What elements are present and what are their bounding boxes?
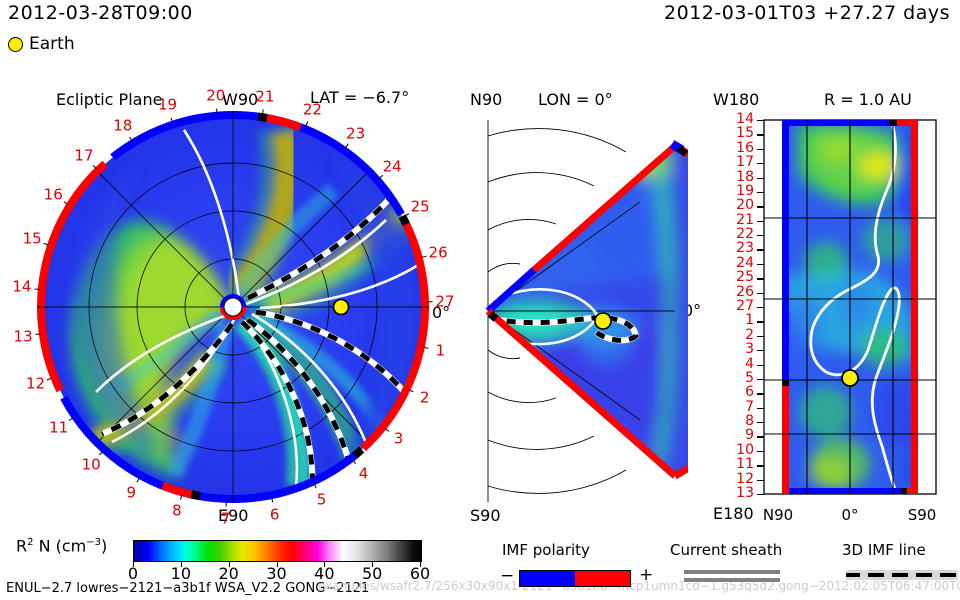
ecliptic-day-label: 7 (221, 511, 231, 526)
ecliptic-panel-title: Ecliptic Plane (56, 92, 162, 108)
carrington-row-tick (757, 206, 764, 207)
carrington-row-tick (757, 149, 764, 150)
carrington-row-tick (757, 192, 764, 193)
carrington-row-label: 21 (736, 213, 754, 227)
carrington-row-tick (757, 365, 764, 366)
ecliptic-day-tick (35, 333, 40, 335)
carrington-row-tick (757, 350, 764, 351)
carrington-row-label: 27 (736, 299, 754, 313)
ecliptic-day-label: 16 (44, 187, 63, 202)
carrington-row-label: 17 (736, 155, 754, 169)
carrington-row-tick (757, 451, 764, 452)
carrington-row-label: 9 (745, 428, 754, 442)
imf-polarity-swatch (519, 570, 631, 587)
carrington-row-label: 23 (736, 241, 754, 255)
carrington-row-tick (757, 494, 764, 495)
ecliptic-day-tick (404, 213, 409, 217)
earth-marker-meridional[interactable] (595, 313, 611, 329)
ecliptic-day-label: 15 (23, 232, 42, 247)
imf-polarity-legend-title: IMF polarity (502, 543, 590, 558)
ecliptic-day-tick (47, 377, 52, 380)
carrington-row-label: 16 (736, 141, 754, 155)
ecliptic-day-tick (423, 347, 428, 349)
carrington-row-tick (757, 307, 764, 308)
carrington-row-tick (757, 422, 764, 423)
carrington-panel-title: R = 1.0 AU (824, 92, 912, 108)
carrington-w180-label: W180 (713, 92, 759, 108)
carrington-bottom-label: N90 (763, 508, 793, 523)
run-start-timestamp: 2012-03-01T03 +27.27 days (664, 4, 950, 23)
ecliptic-day-tick (421, 256, 426, 259)
carrington-row-tick (757, 249, 764, 250)
ecliptic-day-label: 6 (270, 507, 280, 522)
carrington-row-label: 14 (736, 112, 754, 126)
meridional-panel-title: LON = 0° (538, 92, 613, 108)
meridional-n90-label: N90 (470, 92, 502, 108)
ecliptic-day-label: 25 (411, 200, 430, 215)
carrington-bottom-label: S90 (908, 508, 937, 523)
ecliptic-day-label: 3 (394, 432, 404, 447)
ecliptic-day-tick (384, 428, 389, 432)
carrington-row-label: 2 (745, 328, 754, 342)
ecliptic-day-tick (44, 242, 49, 245)
colorbar[interactable] (133, 540, 422, 562)
meridional-canvas (476, 112, 688, 510)
ecliptic-day-label: 24 (383, 159, 402, 174)
carrington-row-label: 13 (736, 486, 754, 500)
earth-legend-label: Earth (29, 36, 75, 53)
colorbar-label: R2 N (cm−3) (16, 538, 107, 554)
carrington-row-label: 22 (736, 227, 754, 241)
ecliptic-day-label: 26 (429, 246, 448, 261)
ecliptic-day-label: 14 (12, 280, 31, 295)
carrington-row-label: 25 (736, 270, 754, 284)
ecliptic-day-tick (225, 501, 227, 506)
current-sheath-swatch-bottom (684, 578, 780, 582)
carrington-row-label: 15 (736, 126, 754, 140)
carrington-row-tick (757, 120, 764, 121)
carrington-row-tick (757, 235, 764, 236)
ecliptic-day-label: 20 (206, 88, 225, 103)
carrington-row-tick (757, 336, 764, 337)
carrington-row-tick (757, 134, 764, 135)
meridional-s90-label: S90 (470, 508, 501, 524)
earth-marker-icon (8, 37, 23, 52)
ecliptic-day-tick (379, 175, 384, 179)
carrington-e180-label: E180 (713, 506, 754, 522)
polarity-plus-label: + (639, 567, 653, 584)
carrington-row-tick (757, 293, 764, 294)
ecliptic-w90-label: W90 (222, 92, 258, 108)
ecliptic-day-label: 10 (82, 457, 101, 472)
ecliptic-day-tick (271, 498, 273, 503)
meridional-slice-plot[interactable] (476, 112, 688, 510)
carrington-row-tick (757, 465, 764, 466)
ecliptic-day-label: 5 (317, 492, 327, 507)
ecliptic-day-tick (63, 201, 68, 205)
current-sheath-legend-title: Current sheath (670, 543, 782, 558)
ecliptic-day-tick (129, 136, 133, 141)
ecliptic-day-label: 18 (113, 118, 132, 133)
carrington-row-tick (757, 379, 764, 380)
carrington-row-tick (757, 178, 764, 179)
ecliptic-day-labels: 1617181920212223242526271234567891011121… (34, 108, 432, 506)
ecliptic-lat-label: LAT = −6.7° (310, 90, 409, 106)
carrington-row-tick (757, 278, 764, 279)
carrington-bottom-labels: N900°S90 (756, 508, 944, 530)
earth-marker-carrington[interactable] (842, 370, 858, 386)
ecliptic-day-tick (305, 122, 308, 127)
polarity-minus-label: − (500, 568, 514, 585)
ecliptic-day-label: 27 (435, 295, 454, 310)
ecliptic-day-label: 22 (303, 103, 322, 118)
carrington-row-label: 10 (736, 443, 754, 457)
polarity-positive-swatch (575, 571, 630, 586)
carrington-row-label: 6 (745, 385, 754, 399)
ecliptic-day-tick (408, 390, 413, 393)
ecliptic-day-label: 8 (172, 504, 182, 519)
ecliptic-day-tick (92, 165, 97, 170)
ecliptic-day-tick (345, 144, 349, 149)
carrington-row-label: 5 (745, 371, 754, 385)
ecliptic-day-tick (180, 494, 183, 499)
ecliptic-day-label: 19 (158, 98, 177, 113)
ecliptic-day-tick (171, 117, 174, 122)
ecliptic-day-label: 1 (436, 344, 446, 359)
ecliptic-day-label: 11 (49, 420, 68, 435)
carrington-row-label: 8 (745, 414, 754, 428)
ecliptic-day-label: 17 (74, 149, 93, 164)
polarity-negative-swatch (520, 571, 575, 586)
ecliptic-day-label: 2 (420, 390, 430, 405)
ecliptic-day-tick (34, 288, 39, 290)
ecliptic-day-label: 4 (359, 467, 369, 482)
carrington-row-label: 18 (736, 170, 754, 184)
earth-legend: Earth (8, 36, 75, 53)
carrington-bottom-label: 0° (841, 508, 858, 523)
ecliptic-day-label: 13 (14, 329, 33, 344)
carrington-row-tick (757, 480, 764, 481)
ecliptic-day-tick (99, 451, 103, 456)
ecliptic-day-tick (314, 483, 317, 488)
carrington-canvas (756, 112, 944, 502)
carrington-row-label: 4 (745, 357, 754, 371)
carrington-row-label: 7 (745, 400, 754, 414)
ecliptic-day-tick (352, 460, 356, 465)
ecliptic-day-tick (216, 108, 218, 113)
observation-timestamp: 2012-03-28T09:00 (8, 4, 193, 23)
ecliptic-day-tick (137, 477, 141, 482)
carrington-map-plot[interactable] (756, 112, 944, 502)
carrington-row-label: 11 (736, 457, 754, 471)
ecliptic-day-label: 12 (26, 377, 45, 392)
carrington-row-label: 3 (745, 342, 754, 356)
ecliptic-day-label: 21 (255, 90, 274, 105)
meridional-density-field (476, 112, 688, 510)
ecliptic-day-label: 23 (346, 127, 365, 142)
carrington-row-tick (757, 393, 764, 394)
carrington-row-tick (757, 221, 764, 222)
carrington-row-label: 26 (736, 285, 754, 299)
carrington-row-tick (757, 264, 764, 265)
carrington-row-tick (757, 163, 764, 164)
carrington-row-labels: 1415161718192021222324252627123456789101… (706, 112, 766, 502)
imf-line-legend-title: 3D IMF line (842, 543, 926, 558)
carrington-row-tick (757, 321, 764, 322)
ecliptic-day-tick (262, 110, 264, 115)
ecliptic-day-tick (427, 302, 432, 304)
ecliptic-day-label: 9 (127, 486, 137, 501)
carrington-row-label: 19 (736, 184, 754, 198)
carrington-row-label: 20 (736, 198, 754, 212)
run-caption: ENUL−2.7 lowres−2121−a3b1f WSA_V2.2 GONG… (6, 582, 369, 595)
imf-line-swatch (846, 570, 958, 580)
current-sheath-swatch-top (684, 570, 780, 574)
carrington-row-label: 1 (745, 313, 754, 327)
carrington-row-tick (757, 436, 764, 437)
carrington-row-tick (757, 408, 764, 409)
ecliptic-day-tick (69, 417, 74, 421)
carrington-row-label: 12 (736, 472, 754, 486)
carrington-row-label: 24 (736, 256, 754, 270)
